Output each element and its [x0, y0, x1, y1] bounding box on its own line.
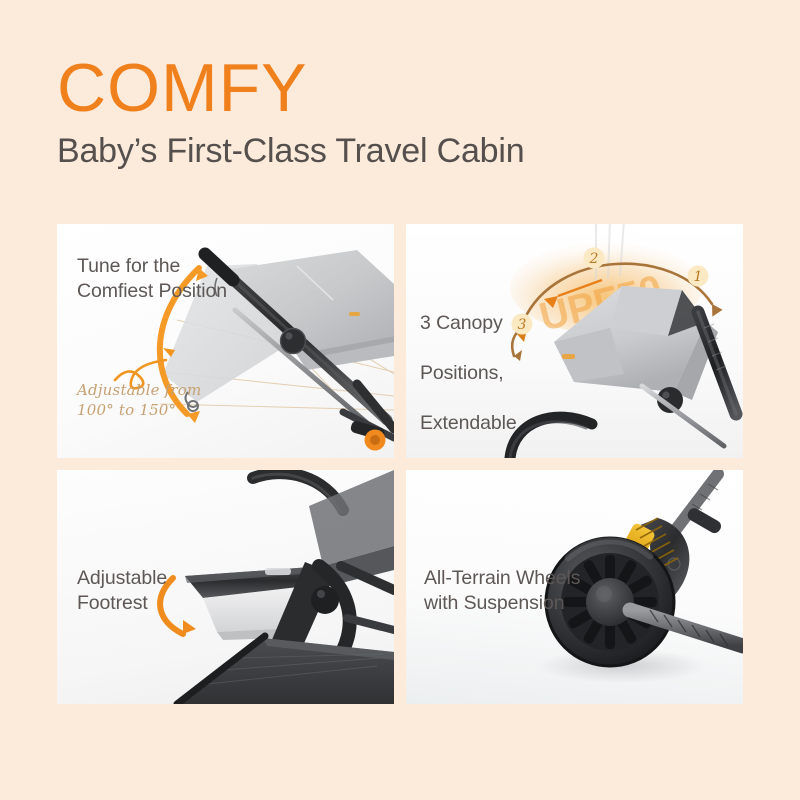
canopy-caption-line-2: Positions, — [420, 362, 504, 384]
panel-caption-recline: Tune for the Comfiest Position — [77, 254, 227, 304]
svg-text:1: 1 — [694, 269, 703, 285]
feature-panel-wheels[interactable]: All-Terrain Wheels with Suspension — [406, 470, 743, 704]
canopy-position-marker-1: 1 — [688, 266, 709, 287]
panel-subcaption-recline-angle: Adjustable from 100° to 150° — [77, 380, 201, 420]
feature-panel-footrest[interactable]: Adjustable Footrest — [57, 470, 394, 704]
page-header: COMFY Baby’s First-Class Travel Cabin — [57, 52, 747, 172]
canopy-caption-line-3: Extendable — [420, 412, 517, 434]
panel-caption-wheels: All-Terrain Wheels with Suspension — [424, 566, 580, 616]
feature-panel-recline[interactable]: Tune for the Comfiest Position Adjustabl… — [57, 224, 394, 458]
feature-panel-grid: Tune for the Comfiest Position Adjustabl… — [57, 224, 743, 716]
panel-caption-canopy: 3 Canopy Positions, Extendable UPF 50+ C… — [420, 286, 569, 458]
page-subtitle: Baby’s First-Class Travel Cabin — [57, 130, 747, 172]
feature-panel-canopy[interactable]: UPF50 1 2 — [406, 224, 743, 458]
canopy-position-marker-2: 2 — [584, 248, 605, 269]
canopy-caption-line-1: 3 Canopy — [420, 312, 503, 334]
page-title: COMFY — [57, 52, 747, 124]
panel-caption-footrest: Adjustable Footrest — [77, 566, 167, 616]
svg-text:2: 2 — [589, 251, 599, 267]
